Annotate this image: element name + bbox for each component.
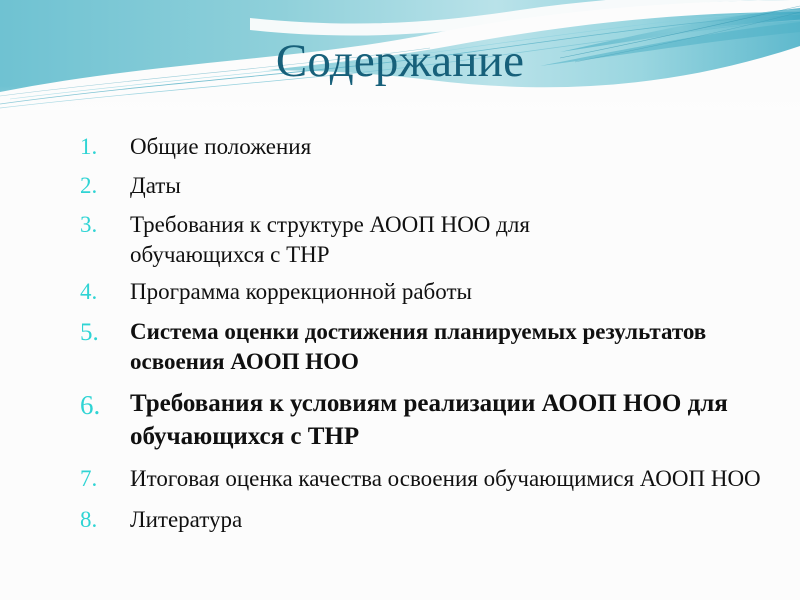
list-item-number: 7. [80, 464, 130, 494]
list-item-number: 2. [80, 171, 130, 201]
list-item-number: 6. [80, 388, 130, 423]
list-item-number: 5. [80, 317, 130, 350]
list-item-label: Требования к структуре АООП НОО для обуч… [130, 210, 660, 270]
list-item[interactable]: 8. Литература [40, 505, 800, 535]
list-item[interactable]: 4. Программа коррекционной работы [40, 277, 800, 307]
list-item-label: Даты [130, 171, 800, 201]
list-item-label: Система оценки достижения планируемых ре… [130, 317, 730, 377]
list-item[interactable]: 5. Система оценки достижения планируемых… [40, 317, 800, 377]
table-of-contents-list: 1. Общие положения 2. Даты 3. Требования… [0, 126, 800, 538]
list-item-label: Итоговая оценка качества освоения обучаю… [130, 464, 782, 494]
list-item[interactable]: 3. Требования к структуре АООП НОО для о… [40, 210, 800, 270]
list-item-label: Литература [130, 505, 800, 535]
list-item[interactable]: 6. Требования к условиям реализации АООП… [40, 388, 800, 453]
list-item-label: Общие положения [130, 132, 800, 162]
list-item-label: Программа коррекционной работы [130, 277, 800, 307]
list-item-number: 4. [80, 277, 130, 307]
list-item[interactable]: 2. Даты [40, 171, 800, 201]
list-item[interactable]: 1. Общие положения [40, 132, 800, 162]
list-item-label: Требования к условиям реализации АООП НО… [130, 388, 795, 453]
list-item-number: 1. [80, 132, 130, 162]
list-item-number: 3. [80, 210, 130, 240]
page-title: Содержание [276, 38, 524, 85]
slide: Содержание 1. Общие положения 2. Даты 3.… [0, 0, 800, 600]
list-item-number: 8. [80, 505, 130, 535]
list-item[interactable]: 7. Итоговая оценка качества освоения обу… [40, 464, 800, 494]
page-title-container: Содержание [0, 38, 800, 85]
